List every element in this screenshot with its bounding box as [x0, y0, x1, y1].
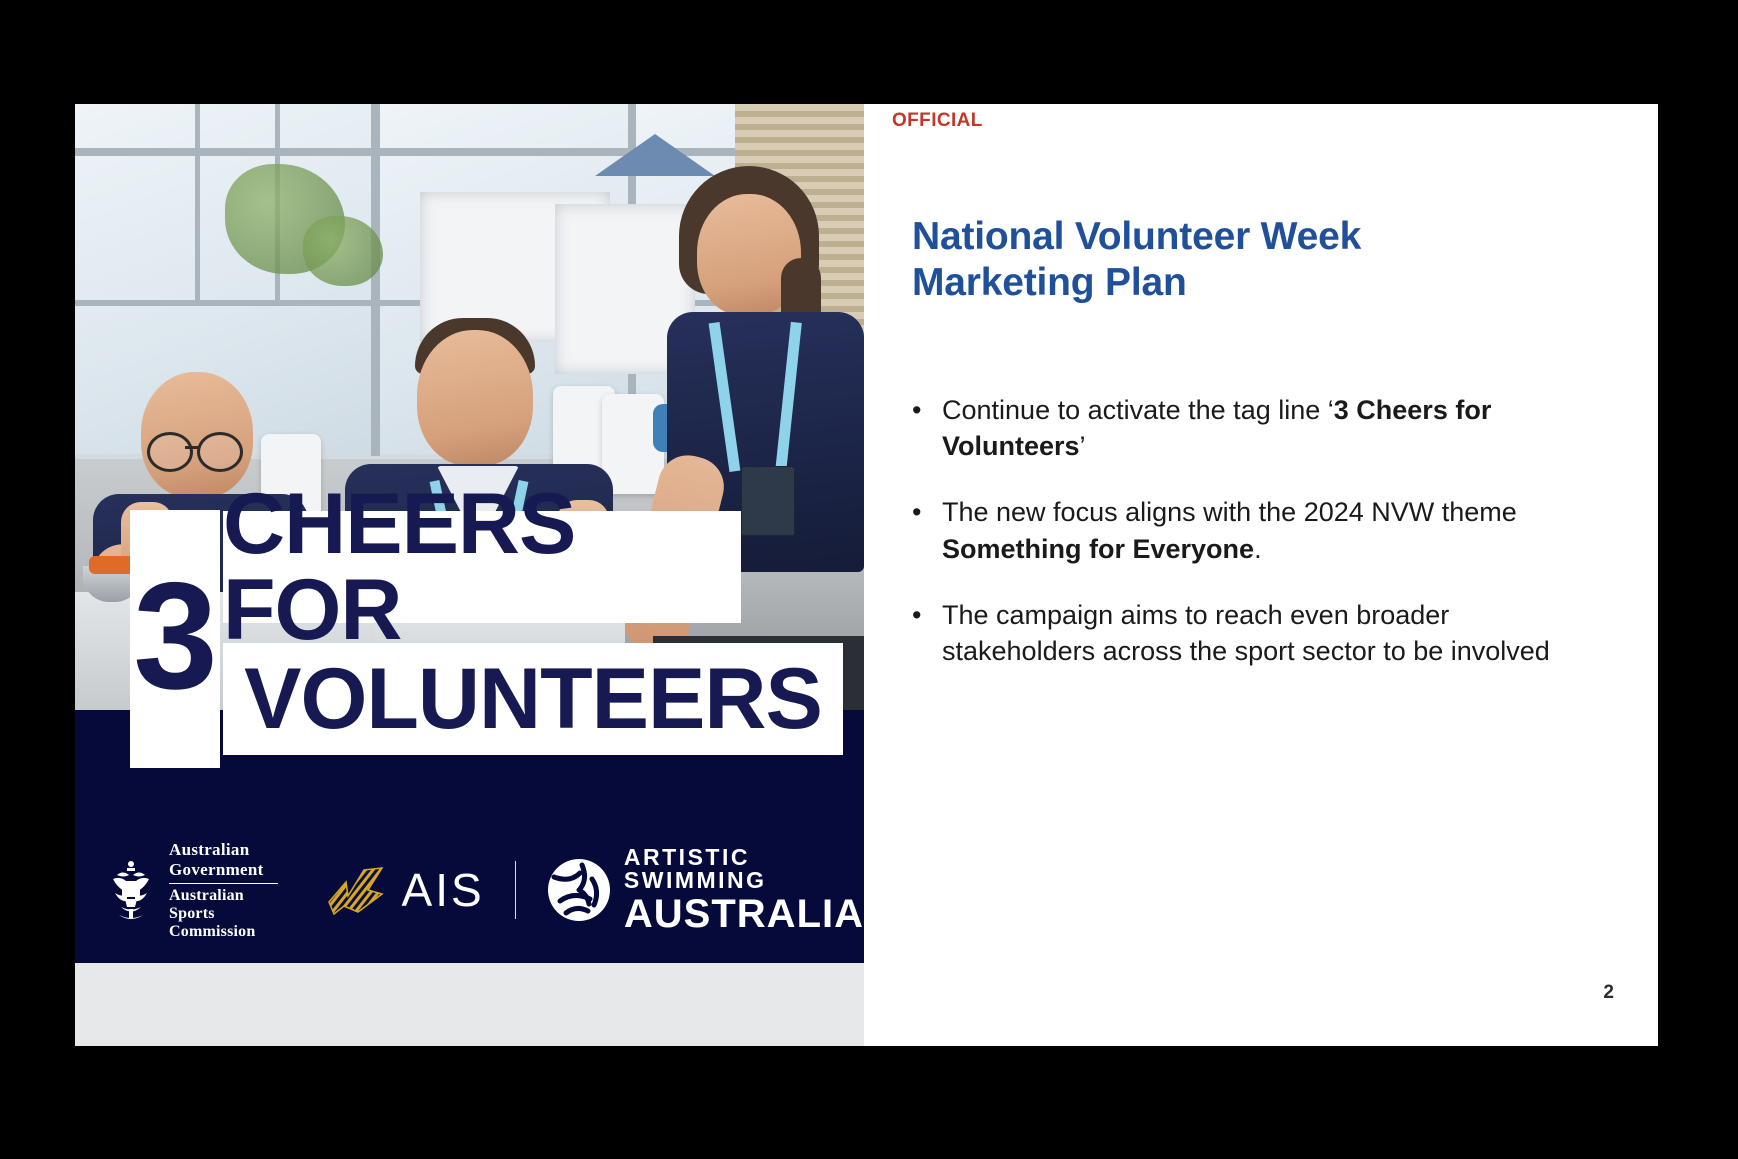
- gov-line-2: Australian Sports Commission: [169, 887, 278, 941]
- asa-line-2: AUSTRALIA: [624, 894, 864, 934]
- tagline-cheers-for: CHEERS FOR: [223, 511, 741, 623]
- bullet-marker: •: [908, 494, 942, 566]
- page-title: National Volunteer Week Marketing Plan: [912, 214, 1452, 306]
- grey-footer-strip: [75, 963, 864, 1046]
- security-classification-label: OFFICIAL: [892, 110, 983, 132]
- bullet-marker: •: [908, 392, 942, 464]
- slide-visual-column: 3 CHEERS FOR VOLUNTEERS: [75, 104, 864, 1046]
- gov-divider-rule: [169, 883, 278, 884]
- tagline-volunteers: VOLUNTEERS: [223, 643, 843, 755]
- bullet-text-reach: The campaign aims to reach even broader …: [942, 597, 1598, 669]
- artistic-swimming-globe-icon: [546, 857, 612, 923]
- bullet-text-theme: The new focus aligns with the 2024 NVW t…: [942, 494, 1598, 566]
- australian-coat-of-arms-icon: [103, 859, 159, 921]
- australian-government-logo: Australian Government Australian Sports …: [103, 840, 278, 941]
- artistic-swimming-australia-logo: ARTISTIC SWIMMING AUSTRALIA: [546, 846, 864, 934]
- logo-row: Australian Government Australian Sports …: [75, 847, 864, 933]
- slide-content-column: OFFICIAL National Volunteer Week Marketi…: [864, 104, 1658, 1046]
- artistic-swimming-wordmark: ARTISTIC SWIMMING AUSTRALIA: [624, 846, 864, 934]
- bullet-text-tagline: Continue to activate the tag line ‘3 Che…: [942, 392, 1598, 464]
- australian-government-wordmark: Australian Government Australian Sports …: [169, 840, 278, 941]
- page-number: 2: [1603, 982, 1614, 1004]
- ais-logo: AIS: [324, 862, 485, 918]
- logo-divider: [515, 861, 516, 919]
- tagline-lockup: 3 CHEERS FOR VOLUNTEERS: [75, 104, 864, 804]
- list-item: • The new focus aligns with the 2024 NVW…: [908, 494, 1598, 566]
- list-item: • Continue to activate the tag line ‘3 C…: [908, 392, 1598, 464]
- ais-kangaroo-icon: [324, 862, 390, 918]
- bullet-list: • Continue to activate the tag line ‘3 C…: [908, 392, 1598, 699]
- presentation-stage: 3 CHEERS FOR VOLUNTEERS: [0, 0, 1738, 1159]
- tagline-number-three: 3: [130, 510, 220, 768]
- slide: 3 CHEERS FOR VOLUNTEERS: [75, 104, 1658, 1046]
- asa-line-1: ARTISTIC SWIMMING: [624, 846, 864, 892]
- bullet-marker: •: [908, 597, 942, 669]
- ais-wordmark: AIS: [402, 863, 485, 917]
- gov-line-1: Australian Government: [169, 840, 278, 880]
- list-item: • The campaign aims to reach even broade…: [908, 597, 1598, 669]
